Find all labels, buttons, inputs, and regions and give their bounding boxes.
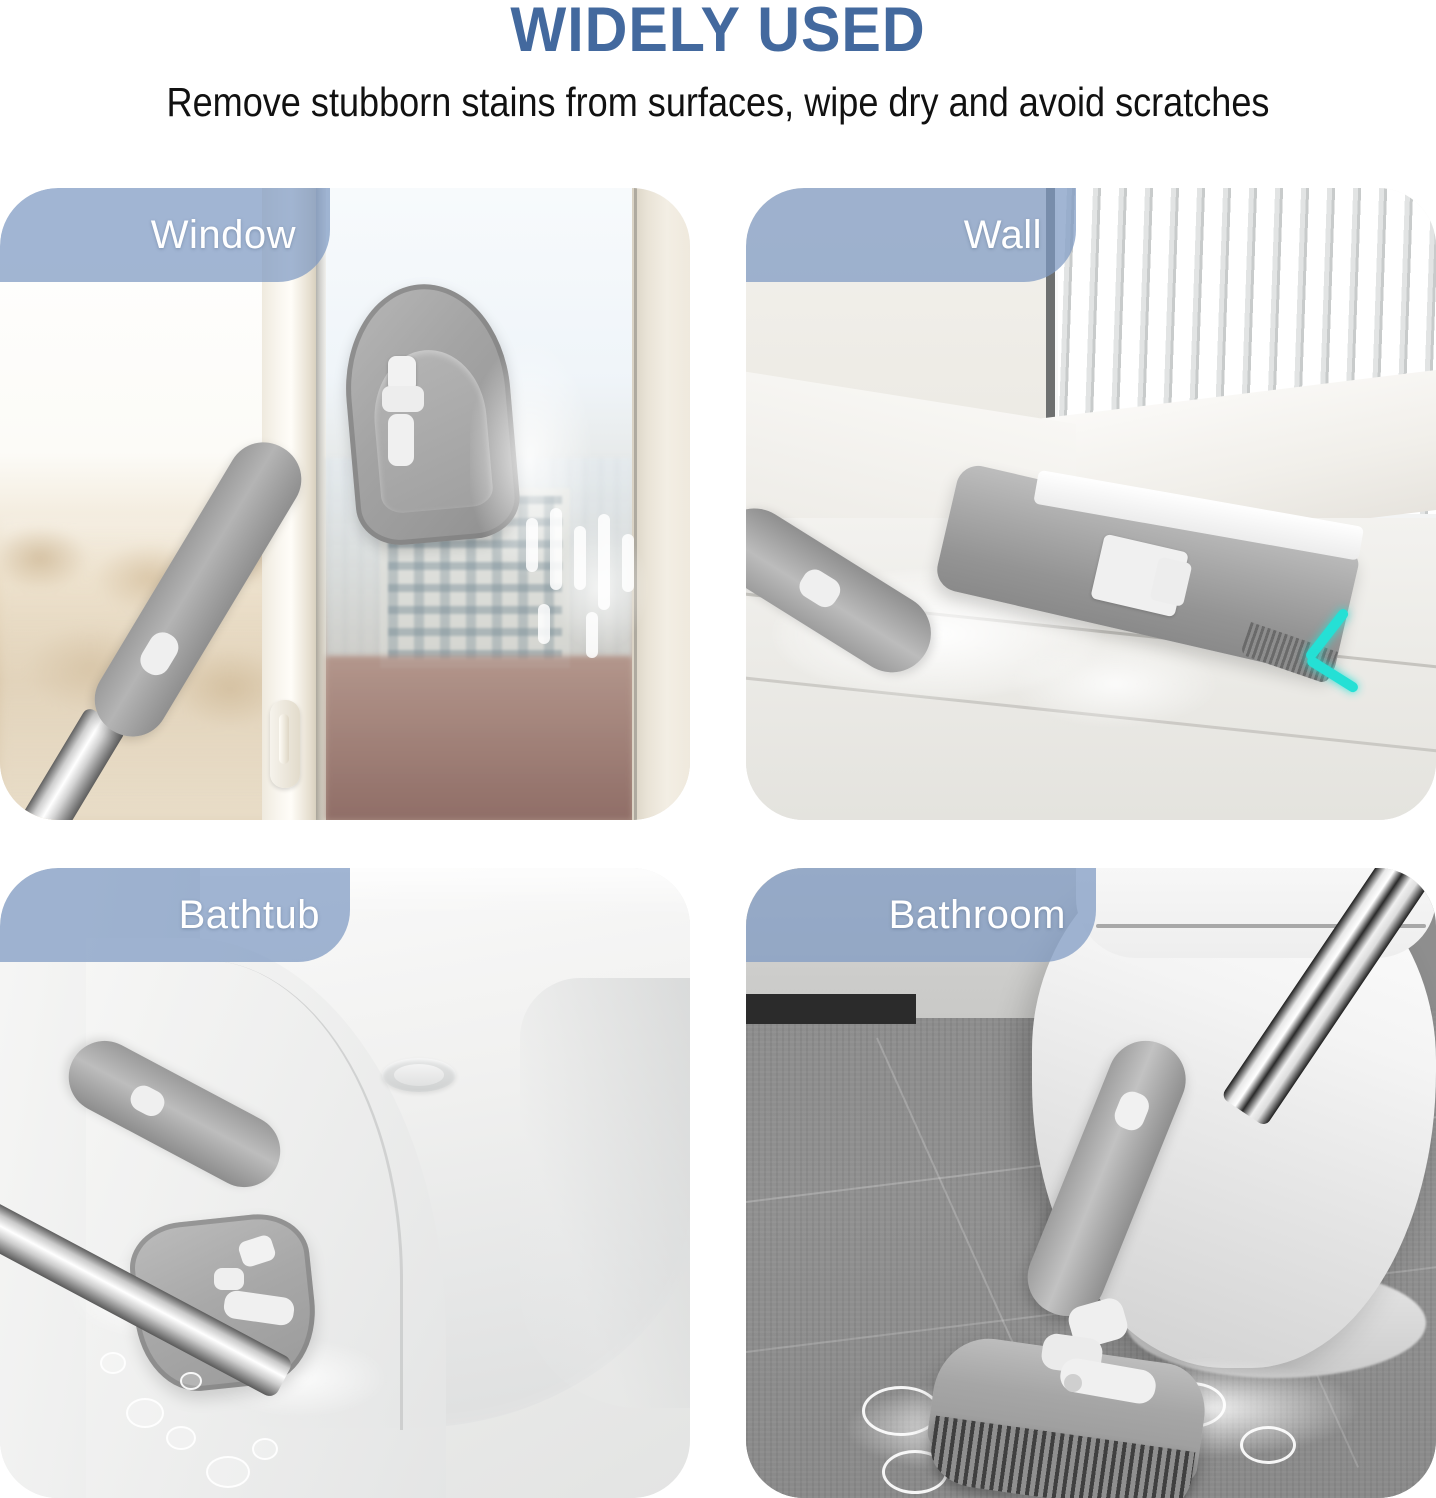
- use-case-grid: Window: [0, 188, 1436, 1498]
- release-button-icon: [135, 627, 183, 680]
- release-button-icon: [126, 1081, 168, 1120]
- infographic-page: WIDELY USED Remove stubborn stains from …: [0, 0, 1436, 1498]
- use-case-panel-bathtub: Bathtub: [0, 868, 690, 1498]
- panel-badge-wall: Wall: [746, 188, 1076, 282]
- use-case-panel-bathroom: Bathroom: [746, 868, 1436, 1498]
- release-button-icon: [795, 565, 845, 612]
- panel-badge-label: Window: [151, 213, 296, 257]
- pivot-joint: [1038, 1302, 1162, 1406]
- panel-badge-label: Wall: [964, 213, 1042, 257]
- header: WIDELY USED Remove stubborn stains from …: [0, 0, 1436, 170]
- mop-head-clip: [382, 356, 426, 476]
- corner-highlight-arrow-icon: [1302, 626, 1378, 702]
- panel-badge-window: Window: [0, 188, 330, 282]
- wall-scene-photo: [746, 188, 1436, 820]
- panel-badge-bathtub: Bathtub: [0, 868, 350, 962]
- release-button-icon: [1111, 1088, 1153, 1134]
- window-scene-photo: [0, 188, 690, 820]
- panel-badge-bathroom: Bathroom: [746, 868, 1096, 962]
- bathroom-scene-photo: [746, 868, 1436, 1498]
- panel-badge-label: Bathroom: [889, 893, 1066, 937]
- water-drips: [520, 508, 660, 688]
- use-case-panel-window: Window: [0, 188, 690, 820]
- use-case-panel-wall: Wall: [746, 188, 1436, 820]
- page-title: WIDELY USED: [43, 0, 1393, 64]
- bathtub-drain: [382, 1058, 456, 1092]
- page-subtitle: Remove stubborn stains from surfaces, wi…: [86, 78, 1350, 126]
- window-handle: [270, 700, 300, 788]
- panel-badge-label: Bathtub: [179, 893, 320, 937]
- bathtub-scene-photo: [0, 868, 690, 1498]
- soap-bubbles: [80, 1288, 410, 1498]
